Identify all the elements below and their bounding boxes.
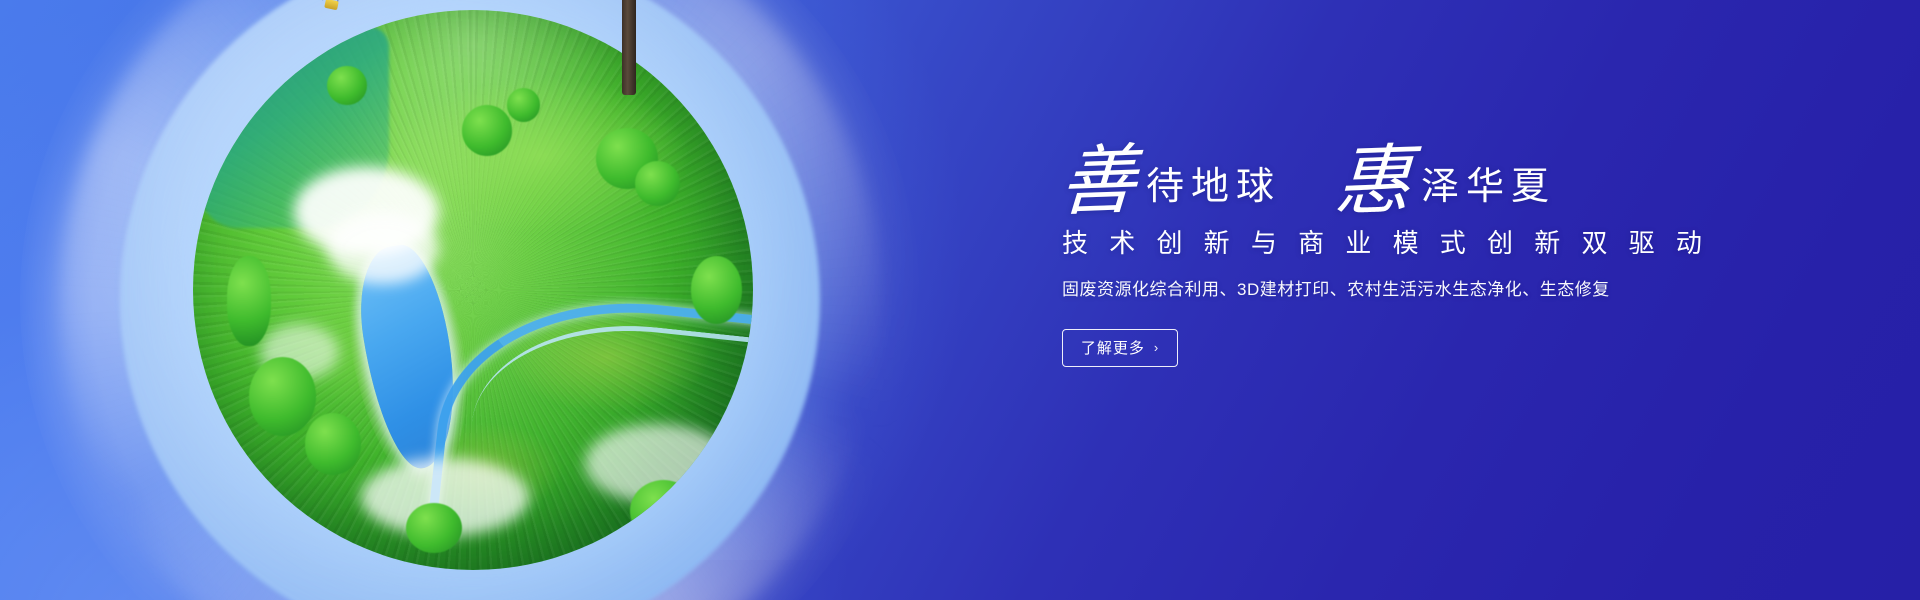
green-planet [193,10,753,570]
tree-bush [227,256,272,346]
tree-bush [507,88,541,122]
headline-text-zehuaxia: 泽华夏 [1421,168,1556,206]
planet-cloud [327,212,439,285]
tiny-planet-artwork [60,0,880,600]
hot-air-balloon-icon [302,0,364,18]
headline-char-shan: 善 [1058,145,1138,220]
page-title: 善 待地球 惠 泽华夏 [1060,140,1820,212]
tree-trunk [622,0,636,95]
tree-bush [691,256,741,323]
learn-more-button[interactable]: 了解更多 › [1062,329,1178,367]
hero-banner: 善 待地球 惠 泽华夏 技 术 创 新 与 商 业 模 式 创 新 双 驱 动 … [0,0,1920,600]
balloon-basket [324,0,339,10]
description: 固废资源化综合利用、3D建材打印、农村生活污水生态净化、生态修复 [1062,277,1820,303]
tree-bush [635,161,680,206]
tree-bush [630,480,697,542]
subtitle: 技 术 创 新 与 商 业 模 式 创 新 双 驱 动 [1062,226,1820,261]
hero-content: 善 待地球 惠 泽华夏 技 术 创 新 与 商 业 模 式 创 新 双 驱 动 … [1060,140,1820,367]
headline-char-hui: 惠 [1333,145,1413,220]
headline-text-daidiqiu: 待地球 [1146,168,1281,206]
tree-bush [249,357,316,435]
tree-bush [406,503,462,553]
tree-bush [462,105,512,155]
tree-icon [480,0,780,85]
learn-more-label: 了解更多 [1081,337,1145,358]
tree-bush [305,413,361,475]
tree-bush [327,66,366,105]
chevron-right-icon: › [1154,341,1159,354]
